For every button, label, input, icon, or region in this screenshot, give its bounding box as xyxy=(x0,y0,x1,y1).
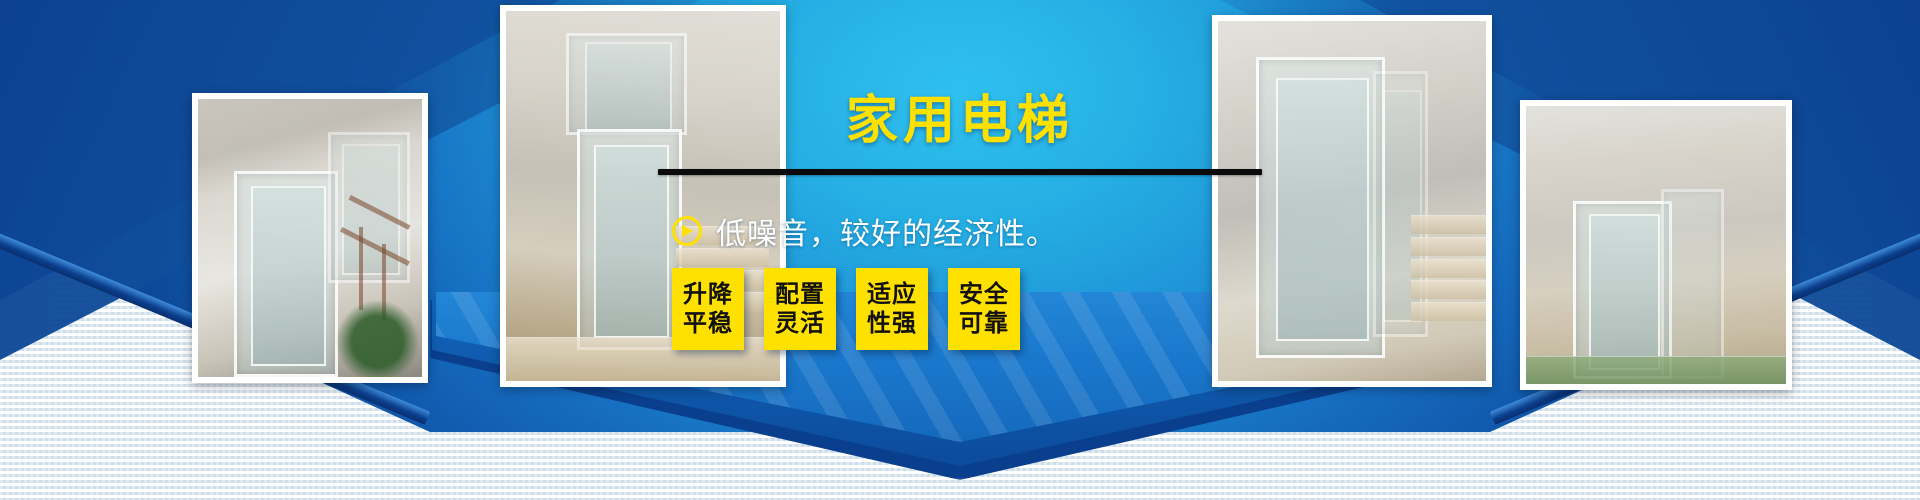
photo-panel-4[interactable] xyxy=(1520,100,1792,390)
home-elevator-banner: 家用电梯 低噪音，较好的经济性。 升降 平稳 配置 灵活 适应 性强 xyxy=(0,0,1920,500)
subtitle-text: 低噪音，较好的经济性。 xyxy=(716,209,1057,253)
feature-tag[interactable]: 安全 可靠 xyxy=(948,268,1020,350)
feature-tag-line2: 灵活 xyxy=(775,309,825,338)
feature-tag-line1: 安全 xyxy=(959,280,1009,309)
banner-text-block: 家用电梯 低噪音，较好的经济性。 升降 平稳 配置 灵活 适应 性强 xyxy=(640,60,1280,390)
feature-tag-line1: 适应 xyxy=(867,280,917,309)
play-circle-icon xyxy=(672,216,702,246)
feature-tag-line2: 可靠 xyxy=(959,309,1009,338)
feature-tag-line2: 性强 xyxy=(867,309,917,338)
photo-image-4 xyxy=(1526,106,1786,384)
feature-tag[interactable]: 适应 性强 xyxy=(856,268,928,350)
photo-panel-1[interactable] xyxy=(192,93,428,383)
page-title: 家用电梯 xyxy=(640,78,1280,153)
photo-image-1 xyxy=(198,99,422,377)
feature-tag-line1: 升降 xyxy=(683,280,733,309)
feature-tag[interactable]: 配置 灵活 xyxy=(764,268,836,350)
title-divider xyxy=(658,169,1262,175)
feature-tag[interactable]: 升降 平稳 xyxy=(672,268,744,350)
feature-tag-line2: 平稳 xyxy=(683,309,733,338)
subtitle-row: 低噪音，较好的经济性。 xyxy=(658,208,1262,254)
feature-tag-line1: 配置 xyxy=(775,280,825,309)
feature-tag-list: 升降 平稳 配置 灵活 适应 性强 安全 可靠 xyxy=(658,268,1262,368)
